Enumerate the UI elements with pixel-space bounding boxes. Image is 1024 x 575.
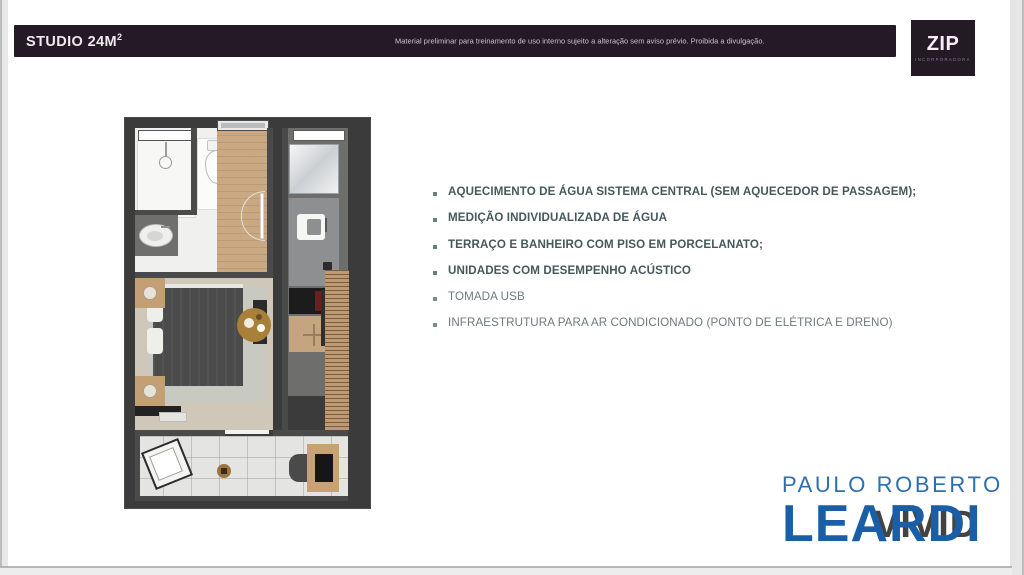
pillow-icon-right [147, 328, 163, 354]
list-item: AQUECIMENTO DE ÁGUA SISTEMA CENTRAL (SEM… [433, 186, 953, 199]
page-margin-left [2, 0, 8, 568]
shower-pipe-icon [165, 142, 167, 157]
entry-door-panel [221, 123, 265, 128]
list-item: UNIDADES COM DESEMPENHO ACÚSTICO [433, 265, 953, 278]
bullet-square-icon [433, 192, 437, 196]
lamp-icon-top [143, 286, 157, 300]
bullet-square-icon [433, 297, 437, 301]
feature-label: INFRAESTRUTURA PARA AR CONDICIONADO (PON… [448, 317, 893, 330]
watermark-line-1: PAULO ROBERTO [782, 474, 1020, 496]
terrace-parapet [135, 496, 348, 501]
kitchen-window [293, 130, 345, 141]
kitchen-faucet-icon [325, 218, 327, 232]
page-margin-right [1010, 0, 1022, 575]
header-bar: STUDIO 24M2 Material preliminar para tre… [14, 25, 896, 57]
table-cup-icon [256, 314, 262, 320]
shower-stall [137, 140, 196, 218]
shower-head-icon [159, 156, 172, 169]
wall-hall-left [267, 128, 273, 276]
feature-label: TOMADA USB [448, 291, 525, 304]
desk-top-icon [159, 412, 187, 422]
terrace-sliding-door [225, 430, 269, 434]
faucet-icon [161, 226, 170, 228]
zip-logo-text: ZIP [927, 34, 960, 54]
wardrobe-door [321, 290, 325, 346]
feature-label: AQUECIMENTO DE ÁGUA SISTEMA CENTRAL (SEM… [448, 186, 916, 199]
bathroom-mirror [138, 130, 194, 141]
page-title: STUDIO 24M2 [26, 32, 122, 50]
refrigerator-icon [289, 144, 339, 194]
bullet-square-icon [433, 323, 437, 327]
wall-bathroom-left [191, 128, 197, 215]
terrace-cabinet-opening [315, 454, 333, 482]
bullet-square-icon [433, 218, 437, 222]
side-table-center-icon [221, 468, 227, 474]
list-item: INFRAESTRUTURA PARA AR CONDICIONADO (PON… [433, 317, 953, 330]
wall-bathroom-lower [135, 210, 197, 215]
wardrobe [325, 270, 349, 430]
slide-canvas: STUDIO 24M2 Material preliminar para tre… [0, 0, 1024, 575]
list-item: TOMADA USB [433, 291, 953, 304]
table-plate-icon [244, 318, 254, 328]
feature-label: UNIDADES COM DESEMPENHO ACÚSTICO [448, 265, 691, 278]
washbasin-drain-icon [147, 231, 163, 241]
wall-bedroom-top [135, 272, 273, 278]
bathroom-door [260, 193, 264, 239]
kitchen-sink-basin [307, 219, 321, 235]
floorplan-image [124, 117, 371, 509]
kitchen-appliance-icon [323, 262, 332, 270]
wardrobe-hanging-clothes-texture [325, 270, 349, 430]
zip-logo: ZIP INCORPORADORA [911, 20, 975, 76]
bullet-square-icon [433, 271, 437, 275]
feature-label: MEDIÇÃO INDIVIDUALIZADA DE ÁGUA [448, 212, 667, 225]
bed-sheet-texture [153, 288, 243, 386]
lamp-icon-bottom [143, 384, 157, 398]
bullet-square-icon [433, 245, 437, 249]
kitchen-cabinet-seam-v [313, 324, 315, 346]
features-list: AQUECIMENTO DE ÁGUA SISTEMA CENTRAL (SEM… [433, 186, 953, 344]
page-title-superscript: 2 [117, 32, 122, 42]
list-item: MEDIÇÃO INDIVIDUALIZADA DE ÁGUA [433, 212, 953, 225]
page-title-text: STUDIO 24M [26, 34, 117, 50]
list-item: TERRAÇO E BANHEIRO COM PISO EM PORCELANA… [433, 239, 953, 252]
page-border-top [8, 0, 1012, 3]
disclaimer-text: Material preliminar para treinamento de … [395, 37, 765, 46]
table-bowl-icon [257, 324, 265, 332]
feature-label: TERRAÇO E BANHEIRO COM PISO EM PORCELANA… [448, 239, 763, 252]
wall-terrace-left [135, 436, 140, 498]
watermark-ghost-text: VIVID [874, 506, 978, 544]
round-table-icon [237, 308, 271, 342]
zip-logo-subtitle: INCORPORADORA [915, 58, 971, 62]
page-margin-bottom [0, 568, 1012, 575]
wall-kitchen-left [282, 128, 288, 430]
